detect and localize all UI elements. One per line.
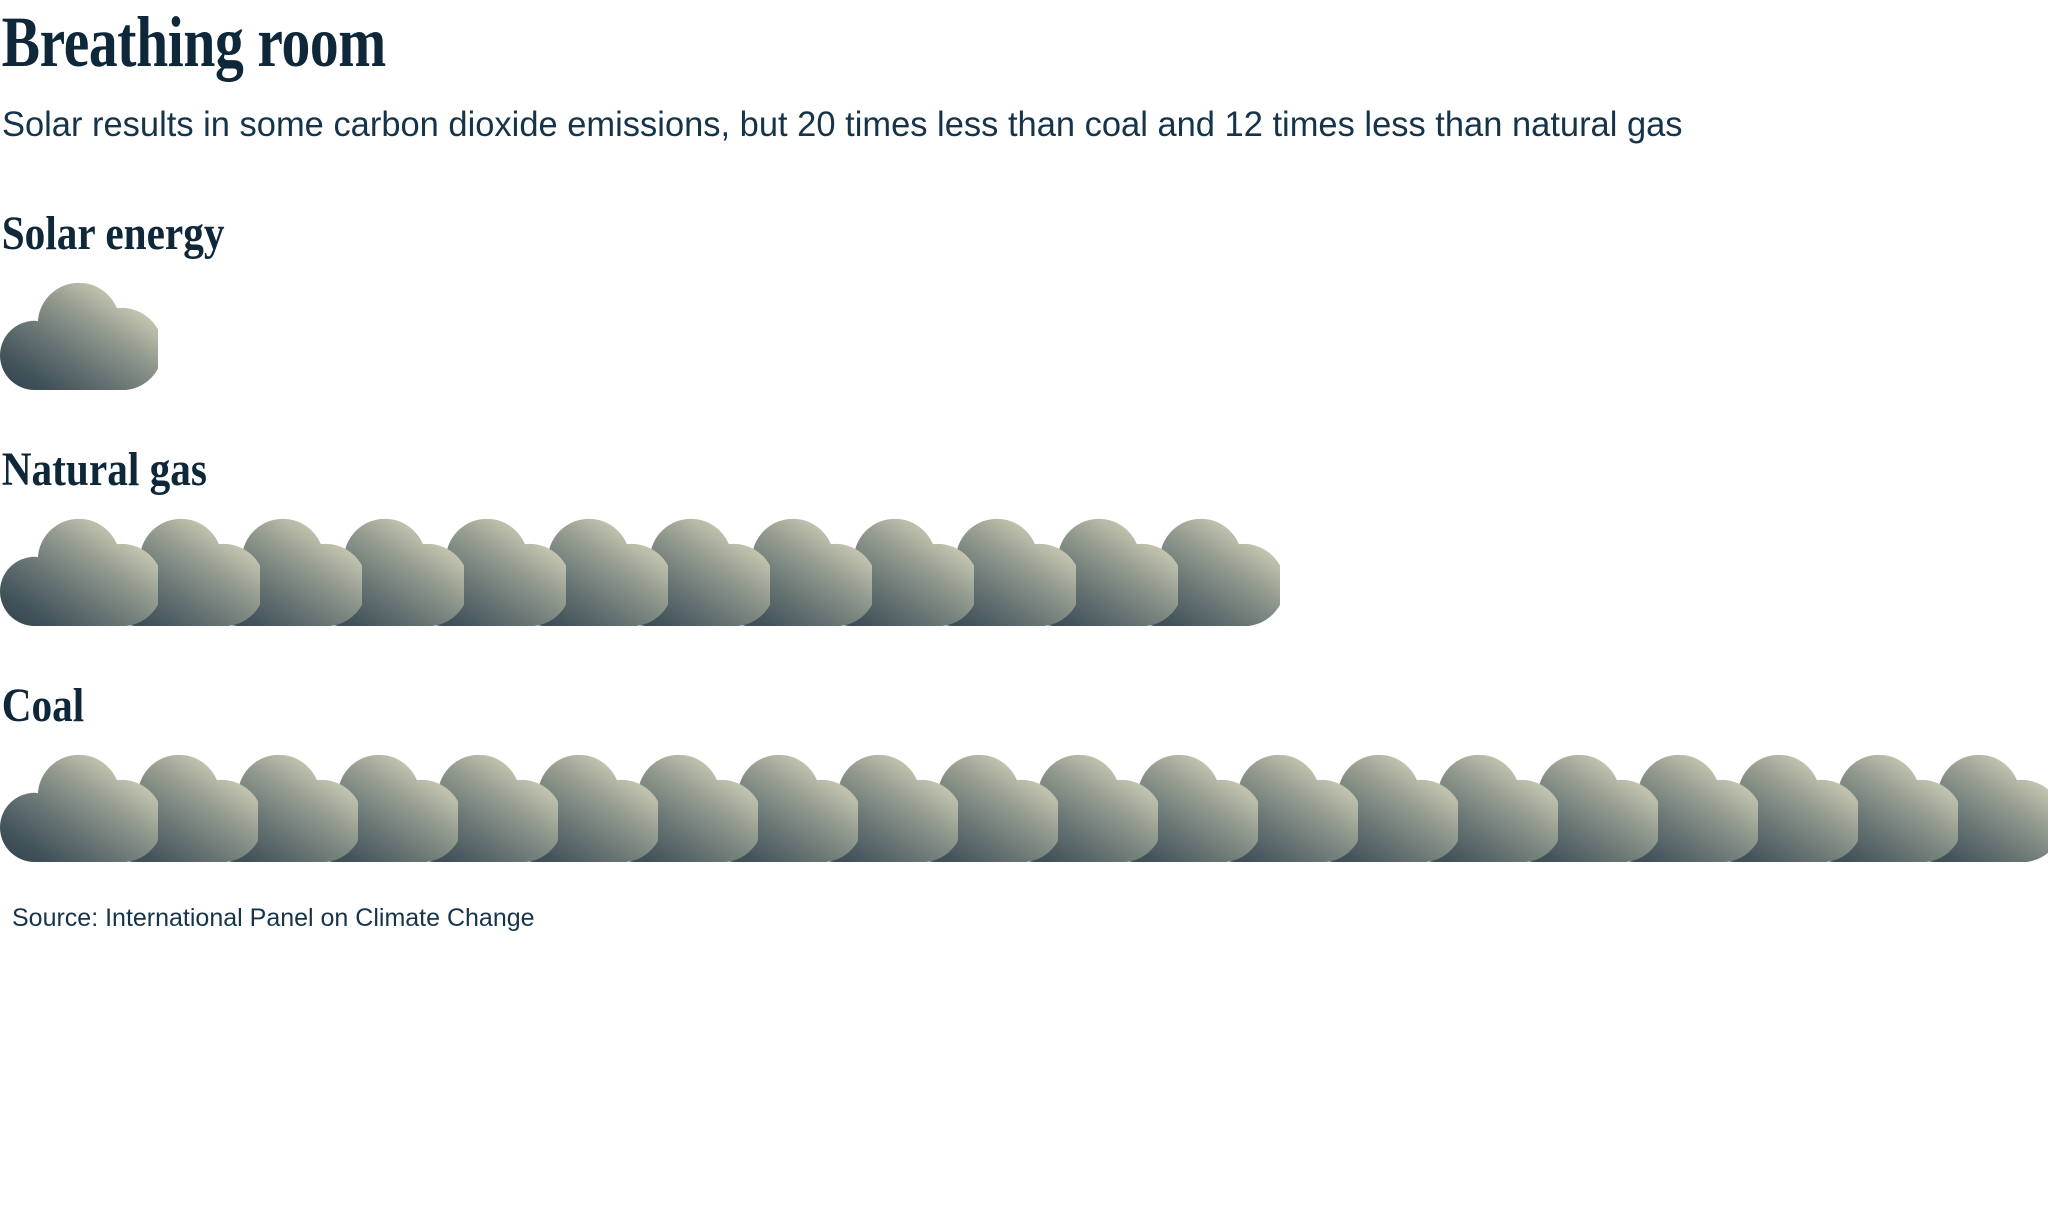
section-coal: Coal xyxy=(0,626,2048,862)
infographic-page: Breathing room Solar results in some car… xyxy=(0,0,2048,1223)
cloud-row-wrapper-solar-energy xyxy=(0,258,2048,390)
source-note: Source: International Panel on Climate C… xyxy=(0,904,2048,933)
cloud-icon xyxy=(0,508,158,626)
cloud-icon xyxy=(0,744,158,862)
cloud-icon xyxy=(0,272,158,390)
cloud-icon xyxy=(0,744,158,862)
section-label-coal: Coal xyxy=(0,682,1761,730)
section-natural-gas: Natural gas xyxy=(0,390,2048,626)
section-label-natural-gas: Natural gas xyxy=(0,446,1761,494)
page-subtitle: Solar results in some carbon dioxide emi… xyxy=(0,78,1852,150)
cloud-icon xyxy=(0,272,158,390)
cloud-row-coal xyxy=(0,744,2048,862)
page-title: Breathing room xyxy=(0,0,1638,78)
cloud-row-natural-gas xyxy=(0,508,2048,626)
section-solar-energy: Solar energy xyxy=(0,150,2048,390)
cloud-row-wrapper-natural-gas xyxy=(0,494,2048,626)
sections-container: Solar energyNatural gasCoal xyxy=(0,150,2048,862)
cloud-row-wrapper-coal xyxy=(0,730,2048,862)
cloud-row-solar-energy xyxy=(0,272,2048,390)
cloud-icon xyxy=(0,508,158,626)
section-label-solar-energy: Solar energy xyxy=(0,210,1761,258)
